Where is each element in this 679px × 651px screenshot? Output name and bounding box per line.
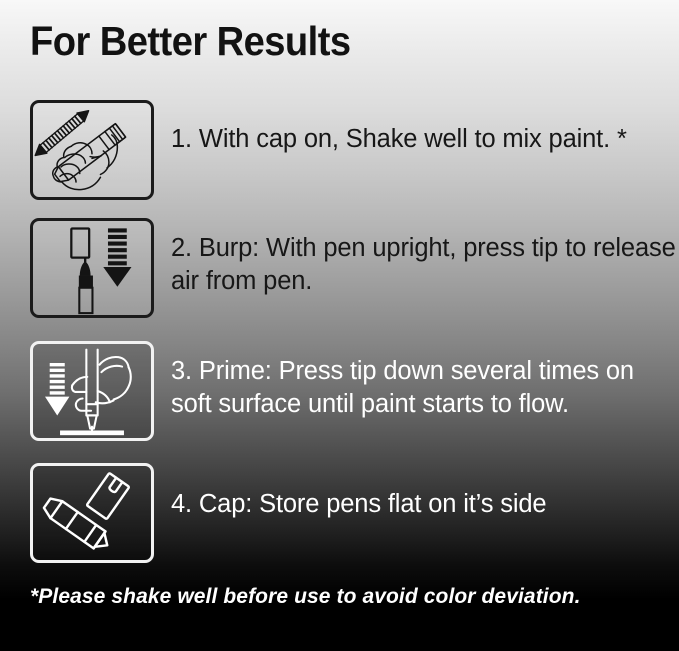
for-better-results-instruction-card: For Better Results (0, 0, 679, 651)
step-1-text: 1. With cap on, Shake well to mix paint.… (171, 123, 676, 156)
step-3-text: 3. Prime: Press tip down several times o… (171, 355, 676, 421)
footnote-text: *Please shake well before use to avoid c… (30, 584, 581, 610)
pen-upright-cap-off-down-arrow-icon (30, 218, 154, 318)
step-4-text: 4. Cap: Store pens flat on it’s side (171, 488, 676, 521)
step-2-text: 2. Burp: With pen upright, press tip to … (171, 232, 676, 298)
shake-pen-in-hand-icon (30, 100, 154, 200)
press-pen-tip-on-surface-icon (30, 341, 154, 441)
pen-lying-flat-cap-off-icon (30, 463, 154, 563)
page-title: For Better Results (30, 17, 350, 65)
